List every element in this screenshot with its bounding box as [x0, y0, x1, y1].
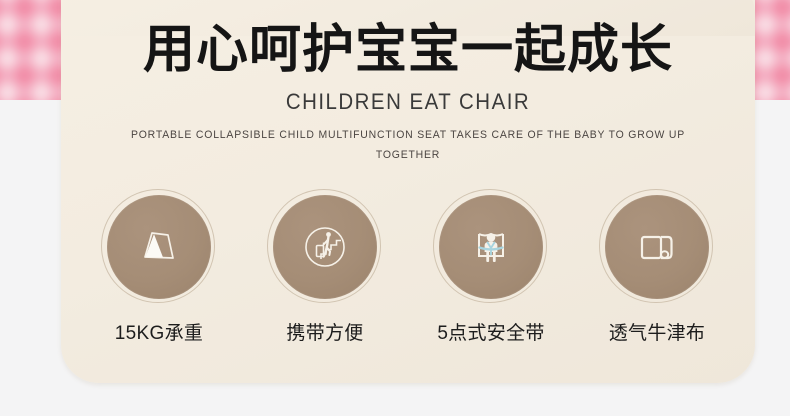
child-seat-harness-icon — [466, 222, 516, 272]
feature-item-weight[interactable]: 15KG承重 — [83, 194, 235, 345]
icon-ring — [272, 194, 378, 300]
feature-label: 透气牛津布 — [609, 318, 706, 345]
page-title: 用心呵护宝宝一起成长 — [61, 24, 755, 76]
feature-label: 携带方便 — [286, 318, 363, 345]
content-card: 用心呵护宝宝一起成长 CHILDREN EAT CHAIR PORTABLE C… — [61, 0, 755, 383]
feature-item-fabric[interactable]: 透气牛津布 — [581, 194, 733, 345]
feature-label: 5点式安全带 — [437, 318, 544, 345]
weight-trapezoid-icon — [136, 224, 182, 270]
subtitle-english: CHILDREN EAT CHAIR — [85, 89, 730, 115]
icon-ring — [106, 194, 212, 300]
icon-disc — [605, 195, 709, 299]
feature-list: 15KG承重 — [83, 194, 733, 345]
icon-disc — [107, 195, 211, 299]
icon-ring — [438, 194, 544, 300]
person-carrying-stairs-icon — [299, 221, 351, 273]
description-text: PORTABLE COLLAPSIBLE CHILD MULTIFUNCTION… — [123, 125, 693, 166]
icon-disc — [273, 195, 377, 299]
icon-ring — [604, 194, 710, 300]
icon-disc — [439, 195, 543, 299]
feature-item-harness[interactable]: 5点式安全带 — [415, 194, 567, 345]
fabric-roll-icon — [633, 223, 681, 271]
feature-item-portable[interactable]: 携带方便 — [249, 194, 401, 345]
promo-banner: 用心呵护宝宝一起成长 CHILDREN EAT CHAIR PORTABLE C… — [0, 0, 790, 416]
feature-label: 15KG承重 — [115, 318, 203, 345]
